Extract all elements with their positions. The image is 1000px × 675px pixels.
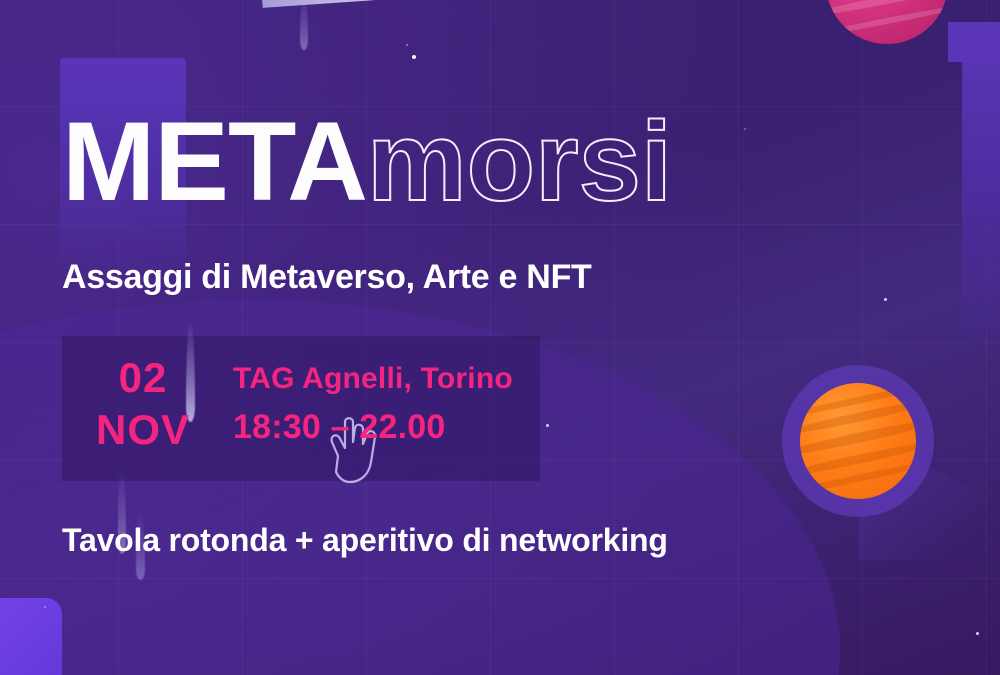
event-date: 02 NOV bbox=[88, 352, 198, 456]
event-time: 18:30 – 22.00 bbox=[233, 408, 445, 447]
event-venue: TAG Agnelli, Torino bbox=[233, 362, 513, 396]
decor-rect-right bbox=[962, 50, 1000, 350]
event-date-day: 02 bbox=[88, 352, 198, 404]
event-description: Tavola rotonda + aperitivo di networking bbox=[62, 522, 668, 559]
decor-rect-bottom-left bbox=[0, 598, 62, 675]
title-outline-part: morsi bbox=[367, 99, 672, 224]
star-dot bbox=[406, 44, 408, 46]
event-poster: METAmorsi Assaggi di Metaverso, Arte e N… bbox=[0, 0, 1000, 675]
star-dot bbox=[546, 424, 549, 427]
decor-rect-top-right bbox=[948, 22, 1000, 62]
subtitle: Assaggi di Metaverso, Arte e NFT bbox=[62, 258, 592, 297]
comet-streak bbox=[300, 0, 308, 50]
orange-planet-icon bbox=[800, 383, 916, 499]
title-solid-part: META bbox=[62, 99, 367, 224]
page-title: METAmorsi bbox=[62, 106, 672, 218]
star-dot bbox=[744, 128, 746, 130]
star-dot bbox=[44, 606, 46, 608]
event-date-month: NOV bbox=[88, 404, 198, 456]
star-dot bbox=[884, 298, 887, 301]
star-dot bbox=[412, 55, 416, 59]
star-dot bbox=[976, 632, 979, 635]
magenta-planet-icon bbox=[826, 0, 948, 44]
